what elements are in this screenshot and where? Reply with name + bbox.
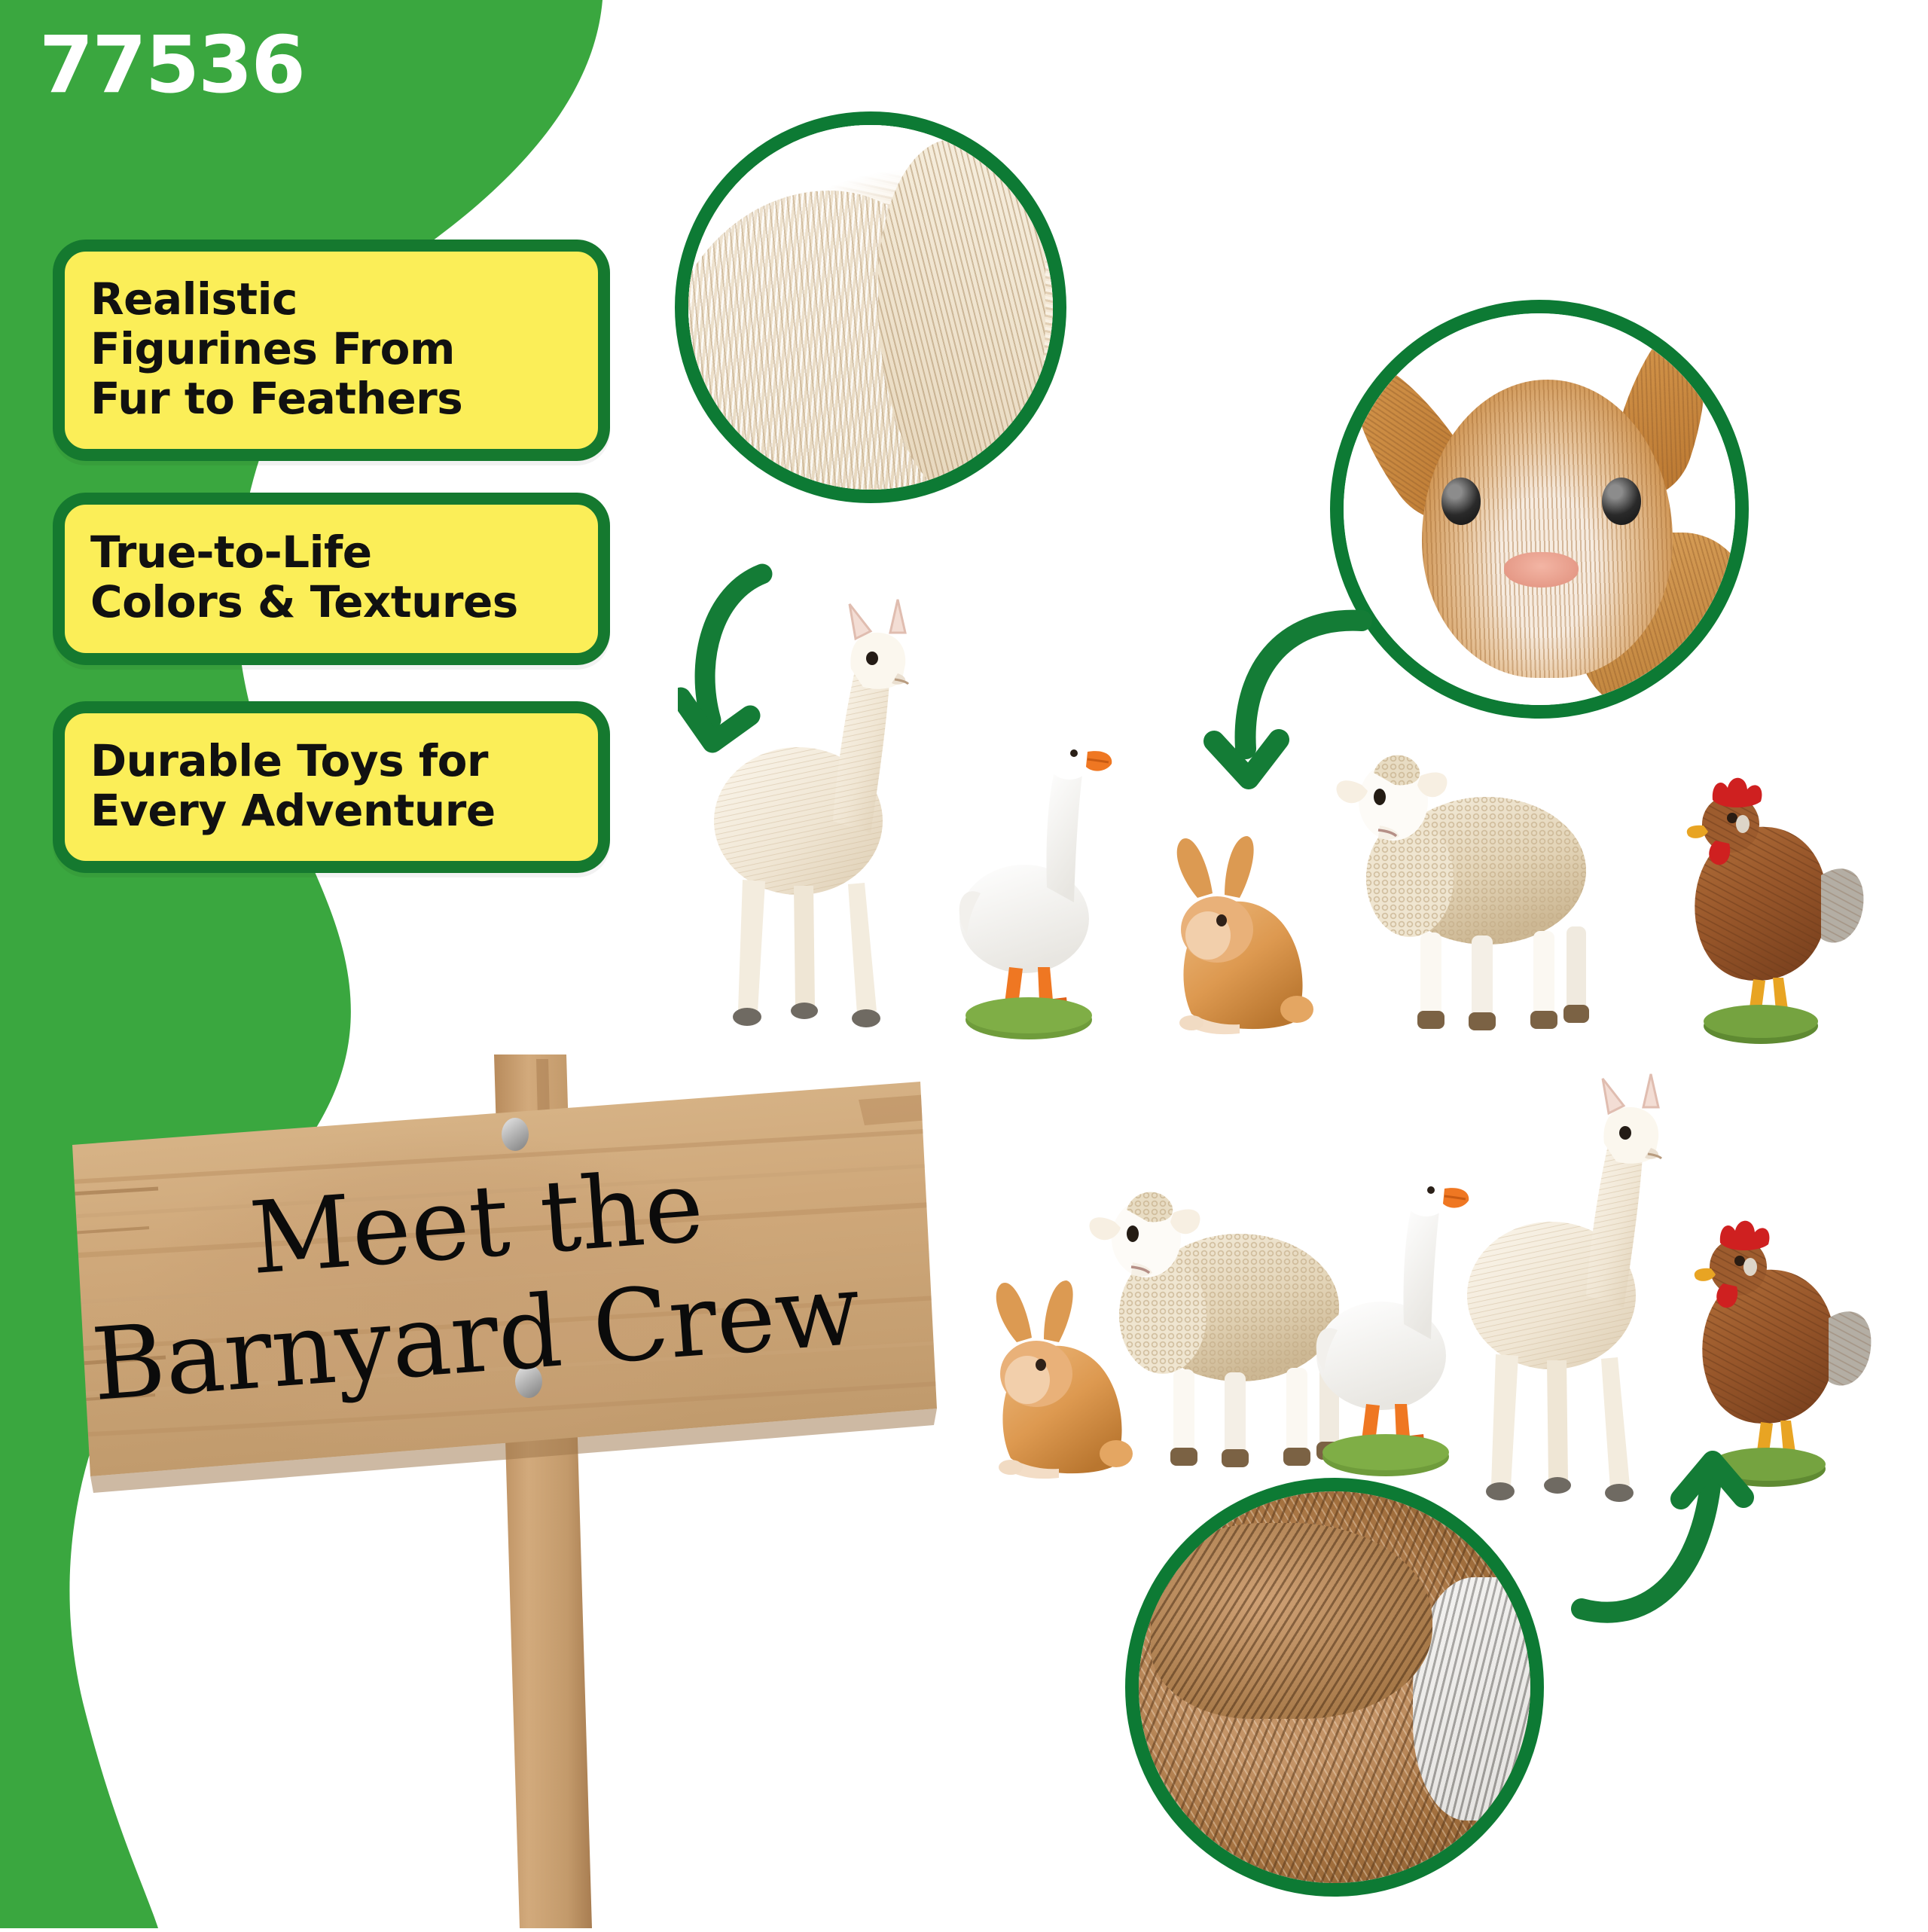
callout-line: Figurines From bbox=[90, 324, 572, 374]
llama-fleece-texture bbox=[688, 125, 1053, 490]
arrow-to-rabbit-icon bbox=[1167, 569, 1393, 795]
callout-line: Every Adventure bbox=[90, 786, 572, 835]
wooden-sign-graphic: Meet the Barnyard Crew bbox=[60, 1055, 949, 1928]
arrow-to-hen-icon bbox=[1566, 1415, 1815, 1663]
callout-line: Durable Toys for bbox=[90, 736, 572, 786]
callout-line: True-to-Life bbox=[90, 527, 572, 577]
product-sku: 77536 bbox=[39, 26, 304, 104]
product-feature-graphic: 77536 Realistic Figurines From Fur to Fe… bbox=[0, 0, 1928, 1928]
feature-callout-durable: Durable Toys for Every Adventure bbox=[53, 701, 610, 873]
callout-line: Colors & Textures bbox=[90, 577, 572, 627]
callout-line: Fur to Feathers bbox=[90, 374, 572, 423]
figurine-rabbit bbox=[1152, 829, 1325, 1047]
feature-callout-list: Realistic Figurines From Fur to Feathers… bbox=[53, 240, 610, 905]
figurine-goose bbox=[1312, 1152, 1470, 1484]
arrow-to-llama-icon bbox=[678, 541, 896, 759]
figurine-goose bbox=[955, 716, 1113, 1047]
rabbit-nose bbox=[1504, 552, 1579, 588]
hen-feather-texture bbox=[1139, 1491, 1530, 1883]
feature-callout-true-to-life: True-to-Life Colors & Textures bbox=[53, 493, 610, 664]
fur-texture-circle bbox=[675, 111, 1066, 503]
feature-callout-realistic: Realistic Figurines From Fur to Feathers bbox=[53, 240, 610, 461]
rabbit-eye-left bbox=[1441, 478, 1481, 524]
wooden-sign: Meet the Barnyard Crew bbox=[60, 1055, 949, 1928]
feather-texture-circle bbox=[1125, 1478, 1544, 1897]
callout-line: Realistic bbox=[90, 274, 572, 324]
rabbit-eye-right bbox=[1602, 478, 1641, 524]
screw-icon bbox=[502, 1118, 529, 1151]
figurine-hen bbox=[1646, 761, 1872, 1047]
rabbit-face-closeup bbox=[1344, 313, 1735, 705]
